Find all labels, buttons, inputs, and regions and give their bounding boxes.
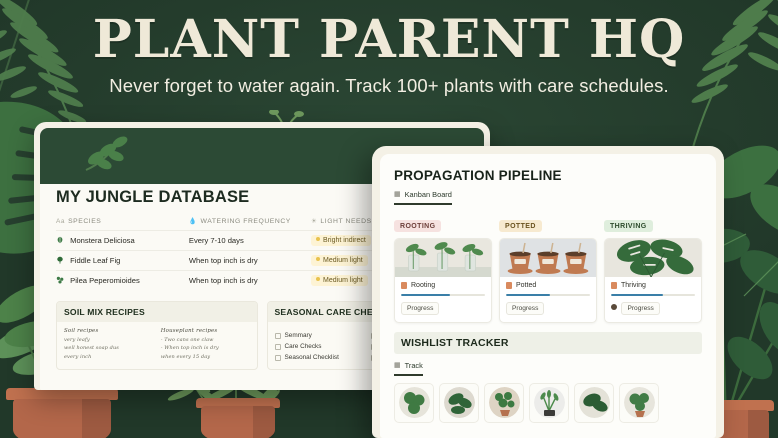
cell-watering: Every 7-10 days xyxy=(189,231,311,251)
page-subtitle: Never forget to water again. Track 100+ … xyxy=(0,75,778,97)
tab-label: Track xyxy=(405,361,423,370)
kanban-column-rooting: ROOTING xyxy=(394,215,492,324)
wishlist-item[interactable] xyxy=(529,383,569,423)
kanban-card[interactable]: Potted Progress xyxy=(499,238,597,324)
cell-watering: When top inch is dry xyxy=(189,251,311,271)
poster-canvas: PLANT PARENT HQ Never forget to water ag… xyxy=(0,0,778,438)
pot-bottom-middle xyxy=(196,398,280,438)
wishlist-title: WISHLIST TRACKER xyxy=(394,332,702,354)
cell-species: Pilea Peperomioides xyxy=(56,271,189,291)
card-label: Potted xyxy=(516,282,536,289)
checkbox[interactable] xyxy=(275,344,281,350)
wishlist-item[interactable] xyxy=(439,383,479,423)
progress-tag[interactable]: Progress xyxy=(506,302,544,315)
card-photo-cuttings xyxy=(395,239,491,277)
progress-bar xyxy=(401,294,485,297)
cell-watering: When top inch is dry xyxy=(189,271,311,291)
kanban-card[interactable]: Rooting Progress xyxy=(394,238,492,324)
propagation-title: PROPAGATION PIPELINE xyxy=(394,168,702,183)
tablet-screen: PROPAGATION PIPELINE ▦ Kanban Board ROOT… xyxy=(380,154,716,438)
kanban-card[interactable]: Thriving Progress xyxy=(604,238,702,324)
sprig-decoration xyxy=(82,134,138,174)
list-item[interactable]: Semmary xyxy=(275,332,364,339)
cell-species: Monstera Deliciosa xyxy=(56,231,189,251)
light-badge: Bright indirect xyxy=(311,235,371,246)
wishlist-item[interactable] xyxy=(484,383,524,423)
checkbox[interactable] xyxy=(275,333,281,339)
wishlist-section: WISHLIST TRACKER ▦ Track xyxy=(394,332,702,423)
status-badge: THRIVING xyxy=(604,220,653,232)
column-header-watering[interactable]: 💧WATERING FREQUENCY xyxy=(189,217,311,231)
soil-mix-card: SOIL MIX RECIPES Soil recipes very leafy… xyxy=(56,301,258,370)
card-meta: Rooting xyxy=(401,282,485,289)
status-badge: POTTED xyxy=(499,220,542,232)
sun-icon: ☀ xyxy=(311,217,317,225)
plant-thumb-3 xyxy=(489,387,520,418)
light-badge: Medium light xyxy=(311,275,368,286)
kanban-column-thriving: THRIVING xyxy=(604,215,702,324)
page-title: PLANT PARENT HQ xyxy=(0,14,778,66)
pot-bottom-left xyxy=(6,388,118,438)
wishlist-item[interactable] xyxy=(574,383,614,423)
droplet-icon: 💧 xyxy=(189,217,198,225)
tab-label: Kanban Board xyxy=(405,190,452,199)
progress-bar xyxy=(611,294,695,297)
aa-icon: Aa xyxy=(56,218,65,225)
wishlist-item[interactable] xyxy=(619,383,659,423)
plant-thumb-1 xyxy=(399,387,430,418)
monstera-icon xyxy=(56,236,64,244)
page-icon xyxy=(611,282,617,289)
board-icon: ▦ xyxy=(394,190,401,198)
list-item[interactable]: Care Checks xyxy=(275,343,364,350)
card-photo-monstera xyxy=(605,239,701,277)
soil-note-right: Houseplant recipes - Two cans one claw -… xyxy=(161,328,250,360)
page-icon xyxy=(506,282,512,289)
soil-mix-title: SOIL MIX RECIPES xyxy=(57,302,257,322)
plant-dot-icon xyxy=(611,304,617,310)
card-label: Rooting xyxy=(411,282,435,289)
cell-species: Fiddle Leaf Fig xyxy=(56,251,189,271)
page-icon xyxy=(401,282,407,289)
progress-tag[interactable]: Progress xyxy=(401,302,439,315)
list-item[interactable]: Seasonal Checklist xyxy=(275,354,364,361)
pilea-icon xyxy=(56,276,64,284)
board-icon: ▦ xyxy=(394,361,401,369)
wishlist-item[interactable] xyxy=(394,383,434,423)
wishlist-thumbnails xyxy=(394,383,702,423)
plant-thumb-4 xyxy=(534,387,565,418)
plant-thumb-5 xyxy=(579,387,610,418)
tab-track[interactable]: ▦ Track xyxy=(394,361,423,376)
hero-header: PLANT PARENT HQ Never forget to water ag… xyxy=(0,14,778,97)
card-meta: Thriving xyxy=(611,282,695,289)
plant-thumb-6 xyxy=(624,387,655,418)
card-meta: Potted xyxy=(506,282,590,289)
tablet-mockup: PROPAGATION PIPELINE ▦ Kanban Board ROOT… xyxy=(372,146,724,438)
progress-tag[interactable]: Progress xyxy=(621,302,659,315)
progress-bar xyxy=(506,294,590,297)
kanban-board: ROOTING xyxy=(394,215,702,324)
light-badge: Medium light xyxy=(311,255,368,266)
soil-note-left: Soil recipes very leafy well honest soap… xyxy=(64,328,153,360)
checklist-column-left: Semmary Care Checks Seasonal Checklist xyxy=(275,328,364,361)
kanban-column-potted: POTTED xyxy=(499,215,597,324)
card-photo-pots xyxy=(500,239,596,277)
fiddle-leaf-icon xyxy=(56,256,64,264)
checkbox[interactable] xyxy=(275,355,281,361)
status-badge: ROOTING xyxy=(394,220,441,232)
card-label: Thriving xyxy=(621,282,646,289)
plant-thumb-2 xyxy=(444,387,475,418)
column-header-species[interactable]: AaSPECIES xyxy=(56,217,189,231)
tab-kanban-board[interactable]: ▦ Kanban Board xyxy=(394,190,452,205)
